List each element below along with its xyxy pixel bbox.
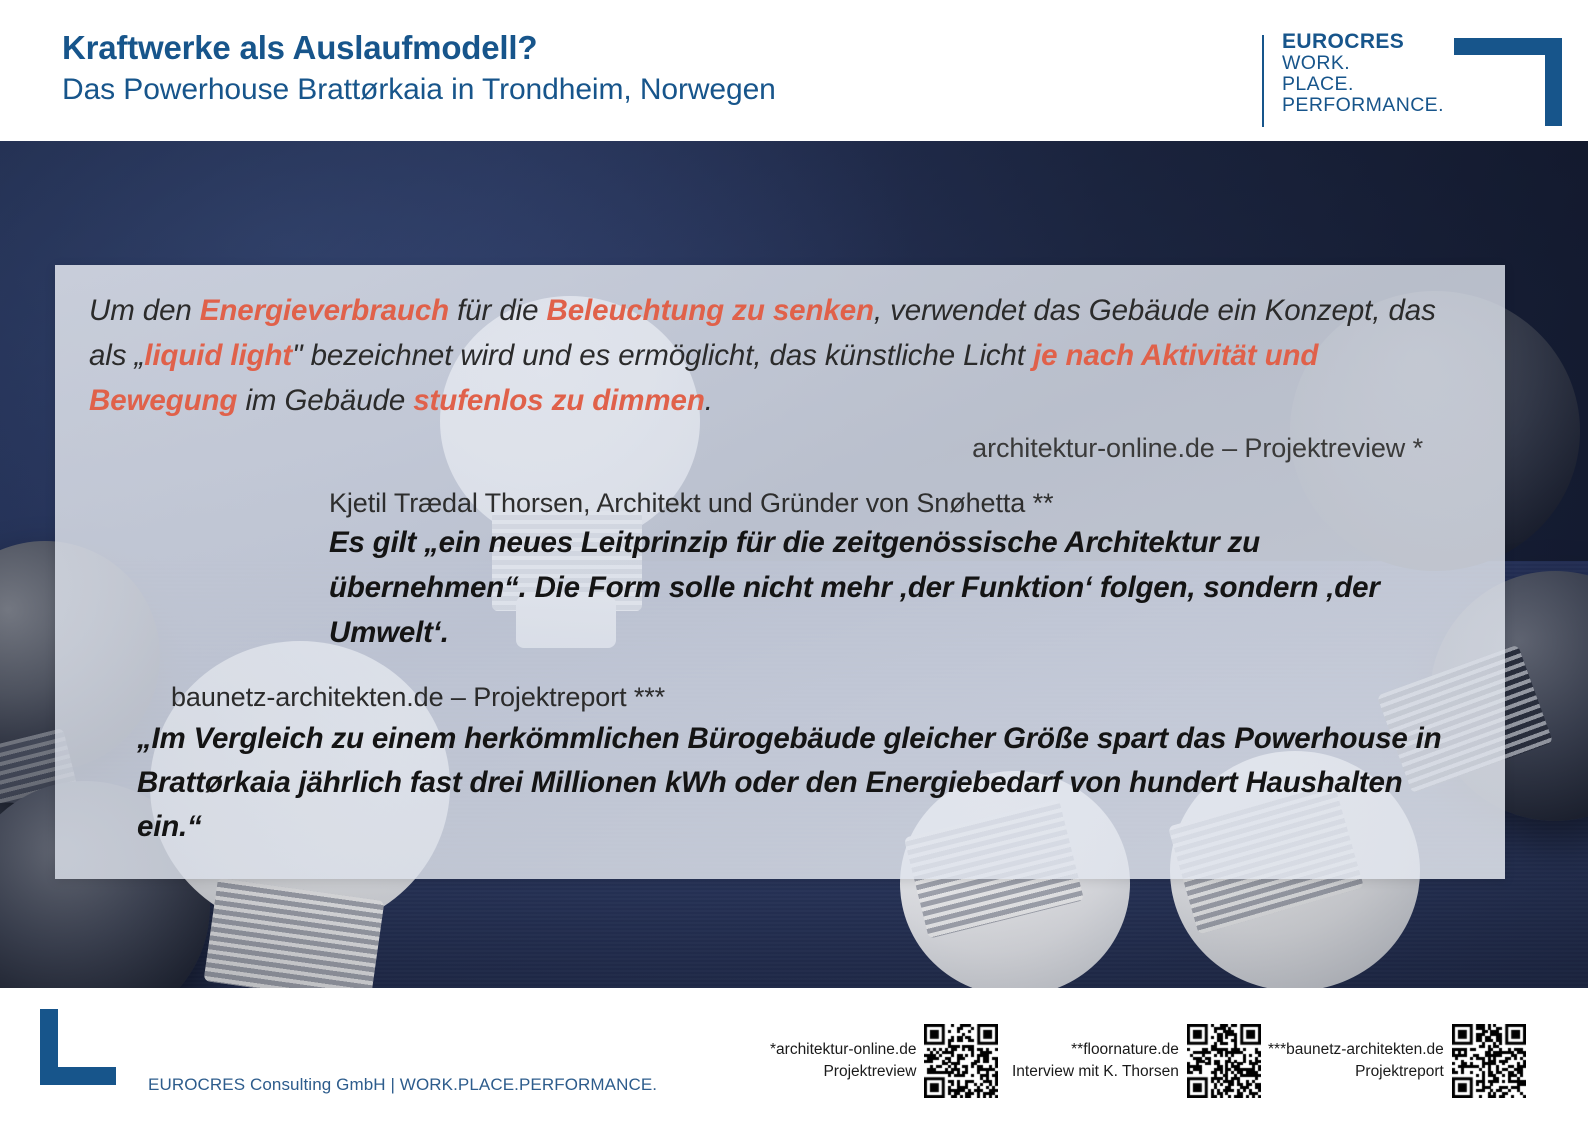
quote-1-plain: im Gebäude — [237, 384, 413, 417]
logo-divider — [1262, 35, 1264, 127]
qr-code-floornature[interactable] — [1187, 1024, 1261, 1098]
quote-1-highlight: liquid light — [144, 339, 292, 372]
quote-3-block: baunetz-architekten.de – Projektreport *… — [89, 682, 1465, 850]
quote-1-highlight: stufenlos zu dimmen — [413, 384, 705, 417]
content-panel: Um den Energieverbrauch für die Beleucht… — [55, 265, 1505, 879]
quote-1-plain: . — [705, 384, 713, 417]
reference-1: *architektur-online.de Projektreview — [770, 1022, 998, 1100]
reference-3: ***baunetz-architekten.de Projektreport — [1268, 1022, 1526, 1100]
content-panel-inner: Um den Energieverbrauch für die Beleucht… — [55, 265, 1505, 879]
logo-bracket-vertical — [1545, 38, 1562, 126]
quote-2-block: Kjetil Trædal Thorsen, Architekt und Grü… — [89, 488, 1465, 655]
reference-3-line2: Projektreport — [1268, 1061, 1444, 1083]
logo-text: EUROCRES WORK. PLACE. PERFORMANCE. — [1282, 31, 1444, 115]
reference-3-line1: ***baunetz-architekten.de — [1268, 1039, 1444, 1061]
title-block: Kraftwerke als Auslaufmodell? Das Powerh… — [62, 28, 776, 109]
slide-header: Kraftwerke als Auslaufmodell? Das Powerh… — [0, 0, 1588, 141]
logo-line-performance: PERFORMANCE. — [1282, 95, 1444, 116]
page-title: Kraftwerke als Auslaufmodell? — [62, 28, 776, 68]
footer-company-text: EUROCRES Consulting GmbH | WORK.PLACE.PE… — [148, 1075, 657, 1095]
eurocres-logo: EUROCRES WORK. PLACE. PERFORMANCE. — [1262, 31, 1562, 131]
quote-1-plain: " bezeichnet wird und es ermöglicht, das… — [292, 339, 1033, 372]
quote-3-source: baunetz-architekten.de – Projektreport *… — [137, 682, 1465, 713]
footer-bracket-icon — [40, 1009, 116, 1085]
reference-1-line1: *architektur-online.de — [770, 1039, 916, 1061]
reference-2-line2: Interview mit K. Thorsen — [1012, 1061, 1179, 1083]
quote-1-plain: Um den — [89, 294, 200, 327]
quote-1-plain: für die — [449, 294, 546, 327]
page-subtitle: Das Powerhouse Brattørkaia in Trondheim,… — [62, 72, 776, 109]
qr-code-architektur-online[interactable] — [924, 1024, 998, 1098]
logo-line-place: PLACE. — [1282, 74, 1444, 95]
logo-bracket-icon — [1454, 38, 1562, 126]
reference-2-line1: **floornature.de — [1012, 1039, 1179, 1061]
quote-1-source: architektur-online.de – Projektreview * — [89, 433, 1465, 464]
logo-brand: EUROCRES — [1282, 31, 1444, 53]
reference-1-label: *architektur-online.de Projektreview — [770, 1039, 916, 1084]
footer-bracket-horizontal — [40, 1067, 116, 1085]
quote-2-text: Es gilt „ein neues Leitprinzip für die z… — [329, 521, 1465, 655]
background-photo-lightbulbs: Um den Energieverbrauch für die Beleucht… — [0, 141, 1588, 988]
quote-1-highlight: Beleuchtung zu senken — [547, 294, 874, 327]
quote-1-highlight: Energieverbrauch — [200, 294, 449, 327]
reference-2-label: **floornature.de Interview mit K. Thorse… — [1012, 1039, 1179, 1084]
quote-2-author: Kjetil Trædal Thorsen, Architekt und Grü… — [329, 488, 1465, 519]
reference-3-label: ***baunetz-architekten.de Projektreport — [1268, 1039, 1444, 1084]
reference-2: **floornature.de Interview mit K. Thorse… — [1012, 1022, 1261, 1100]
reference-1-line2: Projektreview — [770, 1061, 916, 1083]
quote-3-text: „Im Vergleich zu einem herkömmlichen Bür… — [137, 717, 1465, 850]
qr-code-baunetz-architekten[interactable] — [1452, 1024, 1526, 1098]
quote-1-text: Um den Energieverbrauch für die Beleucht… — [89, 289, 1465, 423]
logo-line-work: WORK. — [1282, 53, 1444, 74]
